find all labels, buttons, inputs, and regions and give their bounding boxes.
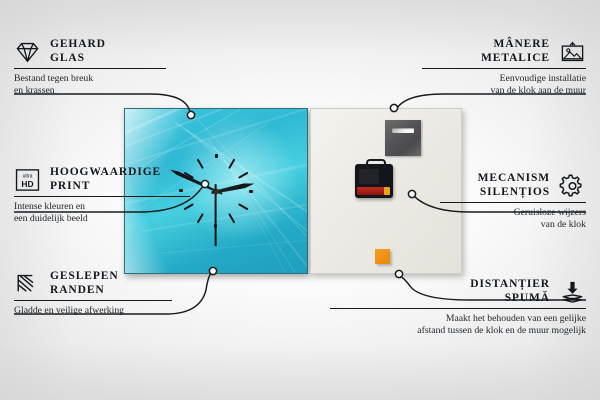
ultra-hd-icon: ultra HD	[14, 168, 41, 192]
feature-title: MÂNEREMETALICE	[481, 38, 550, 65]
gear-icon	[559, 174, 586, 198]
clock-center-hub	[214, 189, 219, 194]
feature-description: Intense kleuren eneen duidelijk beeld	[14, 201, 190, 224]
bevelled-edges-icon	[14, 272, 41, 296]
feature-description: Bestand tegen breuken krassen	[14, 73, 178, 96]
feature-title: MECANISMSILENȚIOS	[478, 172, 550, 199]
feature-distantier-spuma: DISTANȚIERSPUMĂ Maakt het behouden van e…	[330, 278, 586, 336]
feature-rule	[14, 196, 190, 197]
feature-mecanism-silentios: MECANISMSILENȚIOS Geruisloze wijzersvan …	[440, 172, 586, 230]
feature-description: Gladde en veilige afwerking	[14, 305, 182, 317]
quartz-mechanism-part	[355, 164, 393, 198]
feature-description: Maakt het behouden van een gelijkeafstan…	[330, 313, 586, 336]
feature-description: Geruisloze wijzersvan de klok	[440, 207, 586, 230]
press-down-layers-icon	[559, 280, 586, 304]
feature-gehard-glas: GEHARDGLAS Bestand tegen breuken krassen	[14, 38, 178, 96]
feature-geslepen-randen: GESLEPENRANDEN Gladde en veilige afwerki…	[14, 270, 182, 317]
feature-rule	[440, 202, 586, 203]
feature-description: Eenvoudige installatievan de klok aan de…	[422, 73, 586, 96]
feature-title: HOOGWAARDIGEPRINT	[50, 166, 161, 193]
feature-title: GEHARDGLAS	[50, 38, 106, 65]
framed-picture-icon	[559, 40, 586, 64]
feature-rule	[14, 68, 166, 69]
feature-rule	[14, 300, 172, 301]
feature-rule	[422, 68, 586, 69]
feature-title: DISTANȚIERSPUMĂ	[470, 278, 550, 305]
infographic-canvas: GEHARDGLAS Bestand tegen breuken krassen…	[0, 0, 600, 400]
feature-hoogwaardige-print: ultra HD HOOGWAARDIGEPRINT Intense kleur…	[14, 166, 190, 224]
svg-text:HD: HD	[21, 178, 33, 188]
foam-spacer-part	[375, 249, 390, 264]
feature-title: GESLEPENRANDEN	[50, 270, 119, 297]
feature-rule	[330, 308, 586, 309]
metal-hanger-part	[385, 120, 421, 156]
feature-manere-metalice: MÂNEREMETALICE Eenvoudige installatievan…	[422, 38, 586, 96]
diamond-icon	[14, 40, 41, 64]
